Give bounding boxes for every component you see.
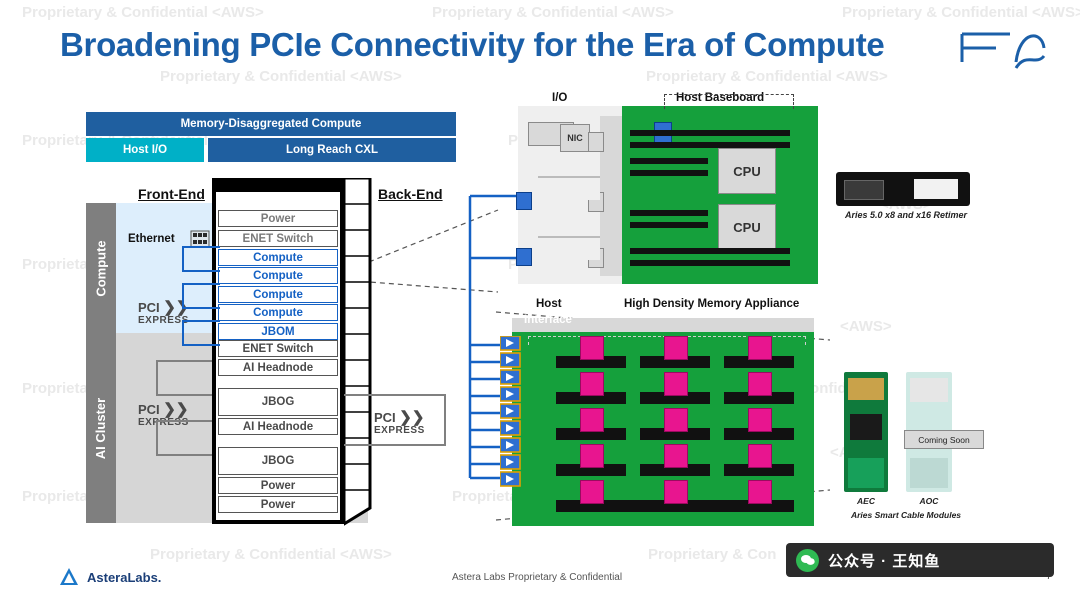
dimm-slot <box>630 130 790 136</box>
rack-slot[interactable]: AI Headnode <box>218 359 338 376</box>
rack-slot[interactable]: Power <box>218 496 338 513</box>
cpu-package: CPU <box>718 204 776 250</box>
appliance-label: High Density Memory Appliance <box>624 298 799 310</box>
astera-labs-name: AsteraLabs. <box>87 570 161 585</box>
compute-connector <box>182 320 220 346</box>
cxl-controller <box>580 480 604 504</box>
cpu-package: CPU <box>718 148 776 194</box>
ai-connector <box>156 420 220 456</box>
cxl-controller <box>580 444 604 468</box>
dimm-slot <box>630 260 790 266</box>
retimer-caption: Aries 5.0 x8 and x16 Retimer <box>836 210 976 220</box>
rack-slot[interactable]: Power <box>218 210 338 227</box>
cxl-controller <box>748 408 772 432</box>
host-baseboard-dash-outline <box>664 94 794 109</box>
coming-soon-badge: Coming Soon <box>904 430 984 449</box>
cxl-controller <box>664 480 688 504</box>
rack-slot[interactable]: AI Headnode <box>218 418 338 435</box>
io-slot <box>538 236 600 260</box>
aec-caption: AEC <box>844 496 888 506</box>
dimm-slot <box>630 210 708 216</box>
cxl-controller <box>748 336 772 360</box>
retimer-chip <box>516 192 532 210</box>
cxl-controller <box>580 336 604 360</box>
cxl-controller <box>748 480 772 504</box>
host-label: Host <box>536 298 562 310</box>
aoc-caption: AOC <box>906 496 952 506</box>
rack-slot[interactable]: ENET Switch <box>218 340 338 357</box>
appliance-ports <box>500 336 526 488</box>
rack-slot[interactable]: Power <box>218 477 338 494</box>
retimer-module-photo <box>836 172 970 206</box>
cxl-controller <box>580 408 604 432</box>
backend-connector <box>344 394 446 446</box>
dimm-slot <box>630 248 790 254</box>
compute-connector <box>182 246 220 272</box>
interface-label: Interface <box>524 314 572 326</box>
astera-mark-icon <box>58 566 80 588</box>
astera-labs-logo: AsteraLabs. <box>58 566 161 588</box>
dimm-slot <box>630 142 790 148</box>
aec-cable-photo <box>844 372 888 492</box>
rack-slot[interactable]: Compute <box>218 267 338 284</box>
rack-slot[interactable]: JBOM <box>218 323 338 340</box>
dimm-slot <box>630 170 708 176</box>
chassis-depth <box>344 178 388 535</box>
rack-slot[interactable]: ENET Switch <box>218 230 338 247</box>
cxl-controller <box>664 408 688 432</box>
footer-confidential-text: Astera Labs Proprietary & Confidential <box>452 572 622 583</box>
io-slot <box>538 176 600 200</box>
cxl-controller <box>580 372 604 396</box>
cxl-controller <box>664 372 688 396</box>
wechat-icon <box>796 549 819 572</box>
cxl-controller <box>664 336 688 360</box>
rack-slot[interactable]: Compute <box>218 286 338 303</box>
rack-slot[interactable]: Compute <box>218 249 338 266</box>
wechat-text: 公众号 · 王知鱼 <box>828 550 940 571</box>
rack-slot[interactable]: JBOG <box>218 447 338 475</box>
nic-card: NIC <box>560 124 590 152</box>
rack-slot[interactable]: Compute <box>218 304 338 321</box>
dimm-slot <box>630 222 708 228</box>
ai-connector <box>156 360 220 396</box>
cxl-controller <box>748 372 772 396</box>
io-label: I/O <box>552 92 567 104</box>
rack-slot[interactable]: JBOG <box>218 388 338 416</box>
retimer-chip <box>516 248 532 266</box>
cxl-controller <box>748 444 772 468</box>
wechat-banner: 公众号 · 王知鱼 <box>786 543 1054 577</box>
dimm-slot <box>630 158 708 164</box>
cxl-controller <box>664 444 688 468</box>
cable-modules-caption: Aries Smart Cable Modules <box>836 510 976 520</box>
compute-connector <box>182 283 220 309</box>
chassis-top-bar <box>212 178 344 192</box>
connector <box>588 132 604 152</box>
